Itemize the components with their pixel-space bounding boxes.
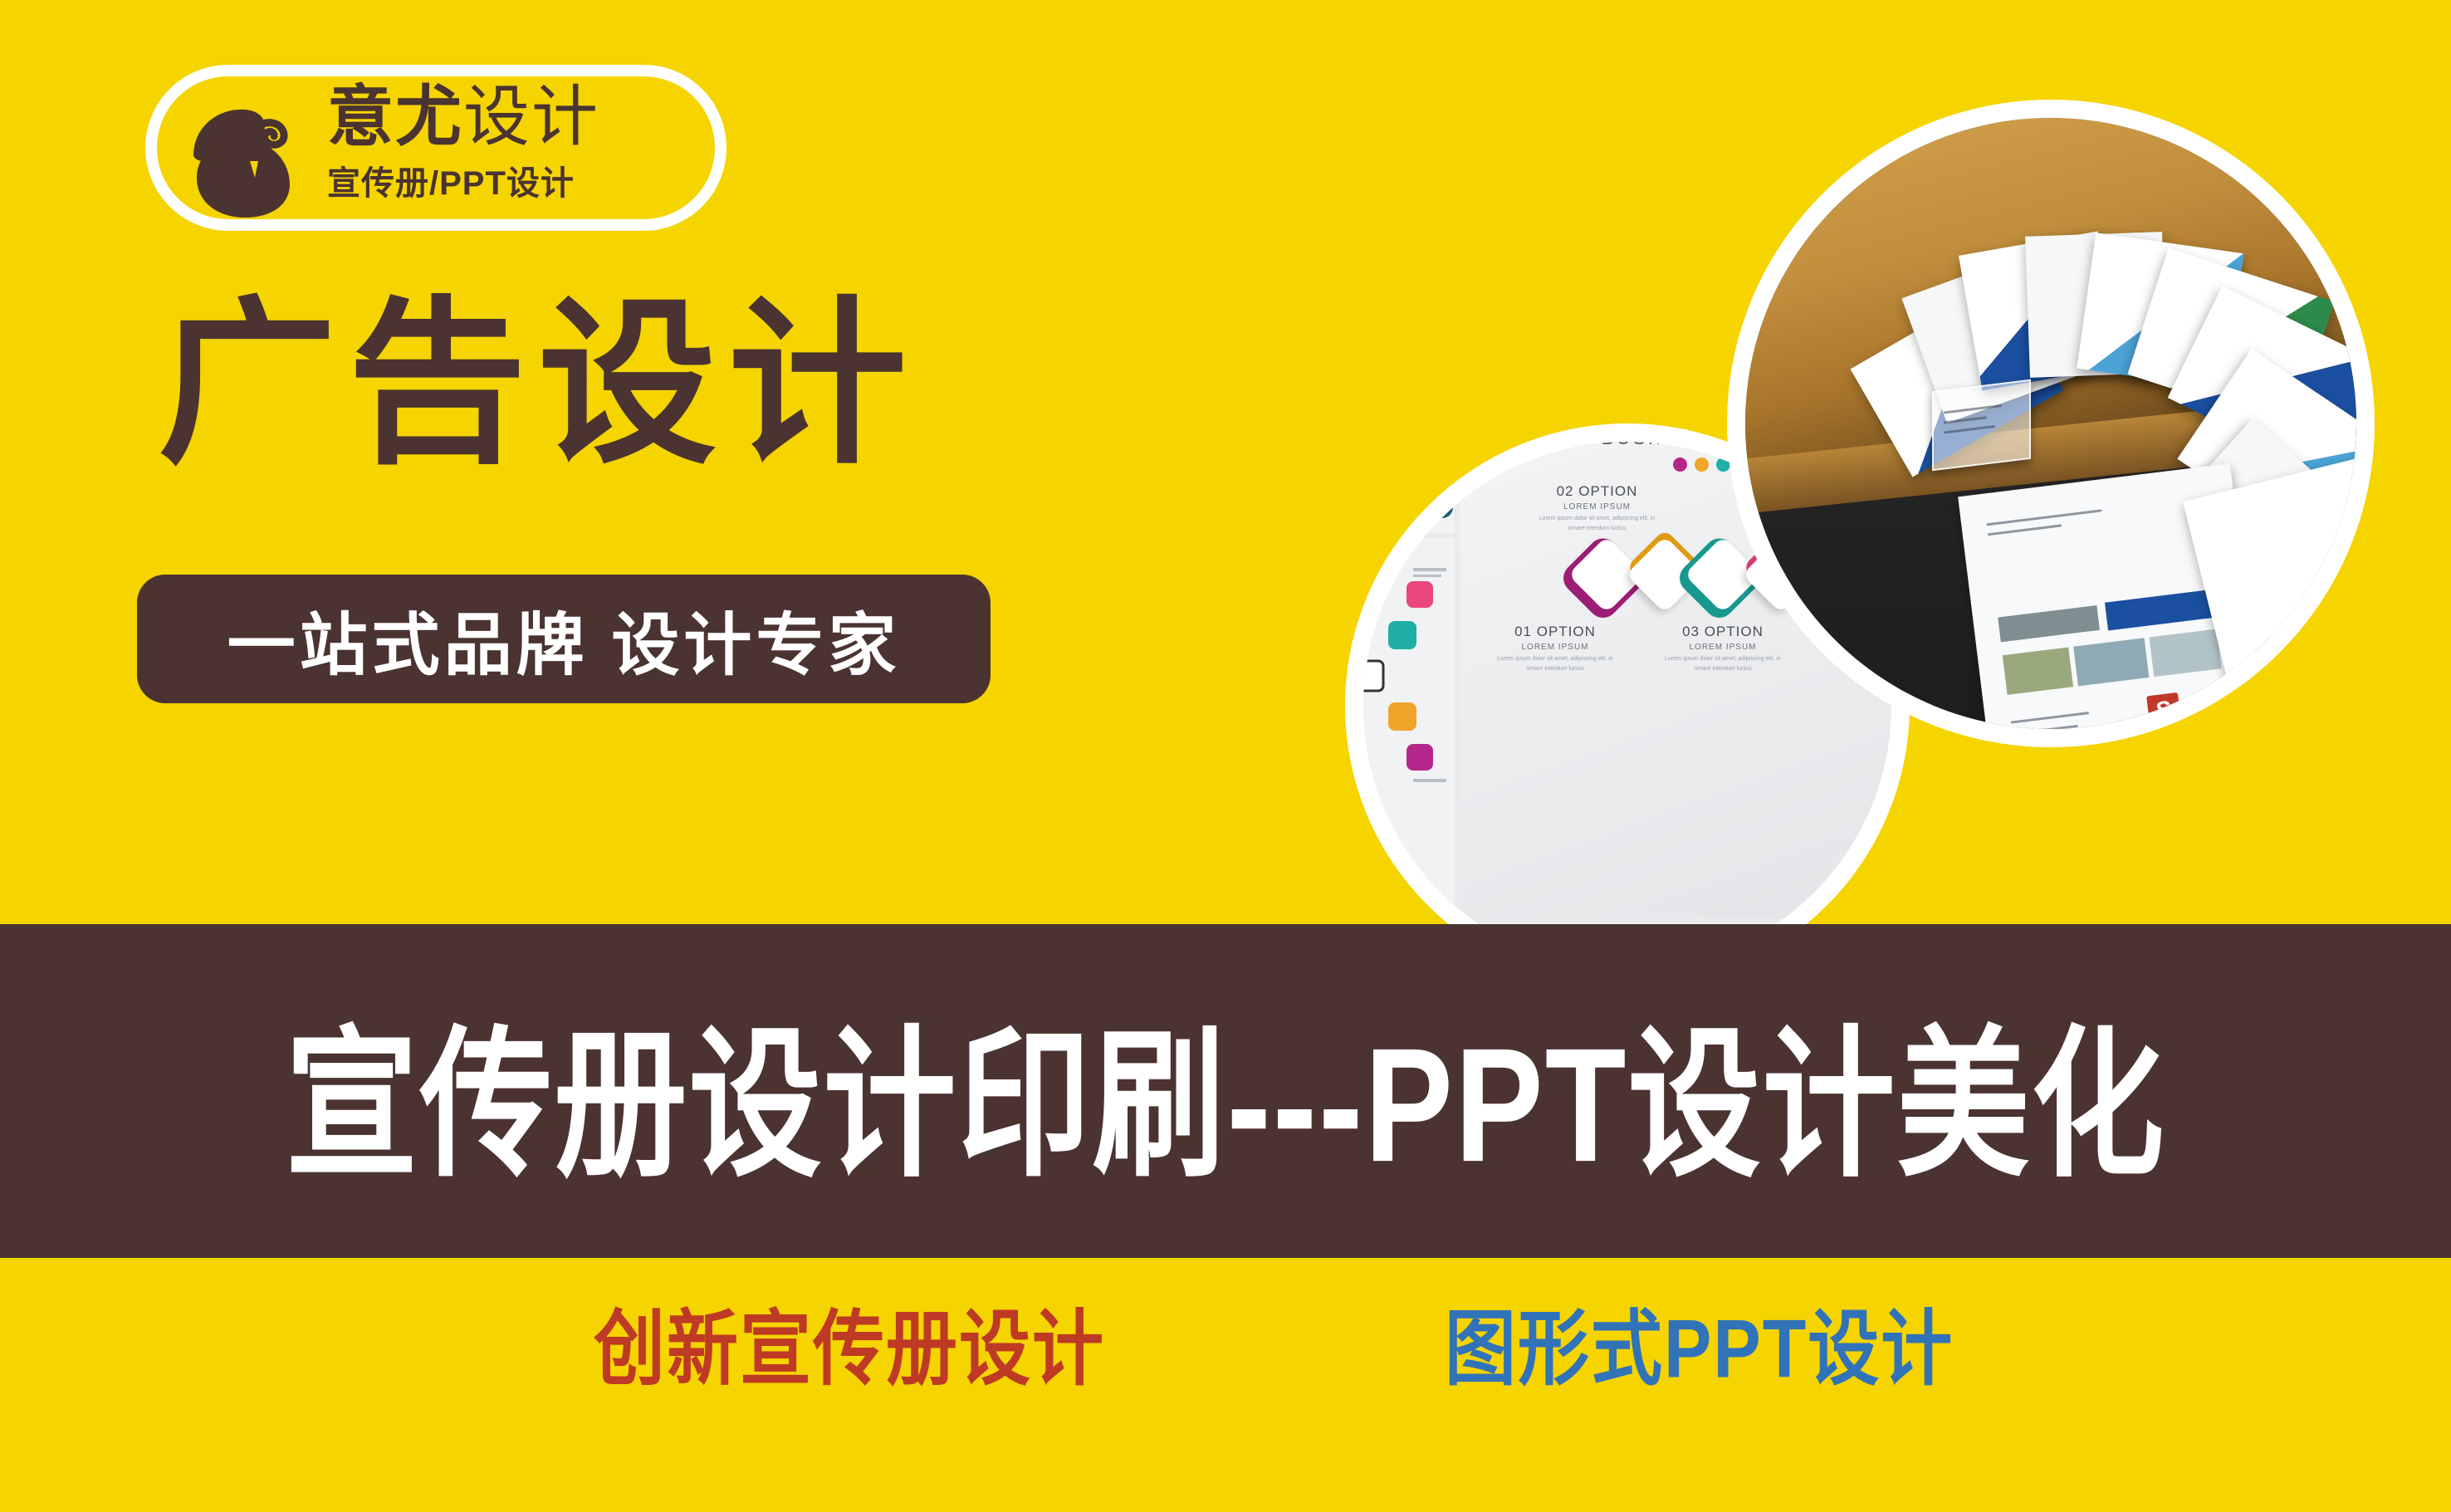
collage-tile-strips	[1363, 442, 1455, 533]
acrylic-card-holder	[1932, 379, 2031, 472]
option-label: 01 OPTION	[1493, 624, 1617, 640]
brochure-photo-circle-image: S	[1745, 118, 2356, 729]
poster-root: 意尤设计 宣传册/PPT设计 广告设计 一站式品牌 设计专家 BUSINES	[0, 0, 2451, 1512]
tagline-text: 一站式品牌 设计专家	[227, 590, 901, 688]
brochure-photo-circle: S	[1727, 100, 2375, 747]
brand-name-thin: 设计	[463, 80, 599, 154]
brand-logo-lockup: 意尤设计 宣传册/PPT设计	[145, 65, 726, 231]
red-seal-stamp: S	[2146, 692, 2181, 727]
option-body: Lorem ipsum dolor sit amet, adipiscing e…	[1535, 514, 1660, 534]
option-sub: LOREM IPSUM	[1535, 502, 1660, 511]
main-banner: 宣传册设计印刷---PPT设计美化	[0, 924, 2451, 1258]
option-sub: LOREM IPSUM	[1493, 643, 1617, 652]
collage-tile-grid	[1363, 538, 1455, 918]
page-title: 广告设计	[158, 295, 918, 473]
collage-option-02: 02 OPTION LOREM IPSUM Lorem ipsum dolor …	[1535, 483, 1660, 534]
main-banner-text: 宣传册设计印刷---PPT设计美化	[285, 973, 2165, 1208]
collage-option-01: 01 OPTION LOREM IPSUM Lorem ipsum dolor …	[1493, 624, 1617, 674]
caption-brochure-design: 创新宣传册设计	[594, 1281, 1105, 1401]
caption-ppt-design: 图形式PPT设计	[1445, 1281, 1954, 1401]
tagline-badge: 一站式品牌 设计专家	[137, 575, 991, 703]
brand-subtitle: 宣传册/PPT设计	[327, 156, 717, 204]
option-body: Lorem ipsum dolor sit amet, adipiscing e…	[1493, 654, 1617, 674]
brand-name-strong: 意尤	[327, 80, 463, 154]
seed-bird-mark-icon	[179, 91, 311, 224]
bottom-caption-row: 创新宣传册设计 图形式PPT设计	[0, 1279, 2451, 1403]
brand-name: 意尤设计	[327, 83, 717, 151]
brochure-photo: S	[1745, 118, 2356, 729]
brand-logo-text: 意尤设计 宣传册/PPT设计	[327, 83, 717, 204]
option-label: 02 OPTION	[1535, 483, 1660, 500]
